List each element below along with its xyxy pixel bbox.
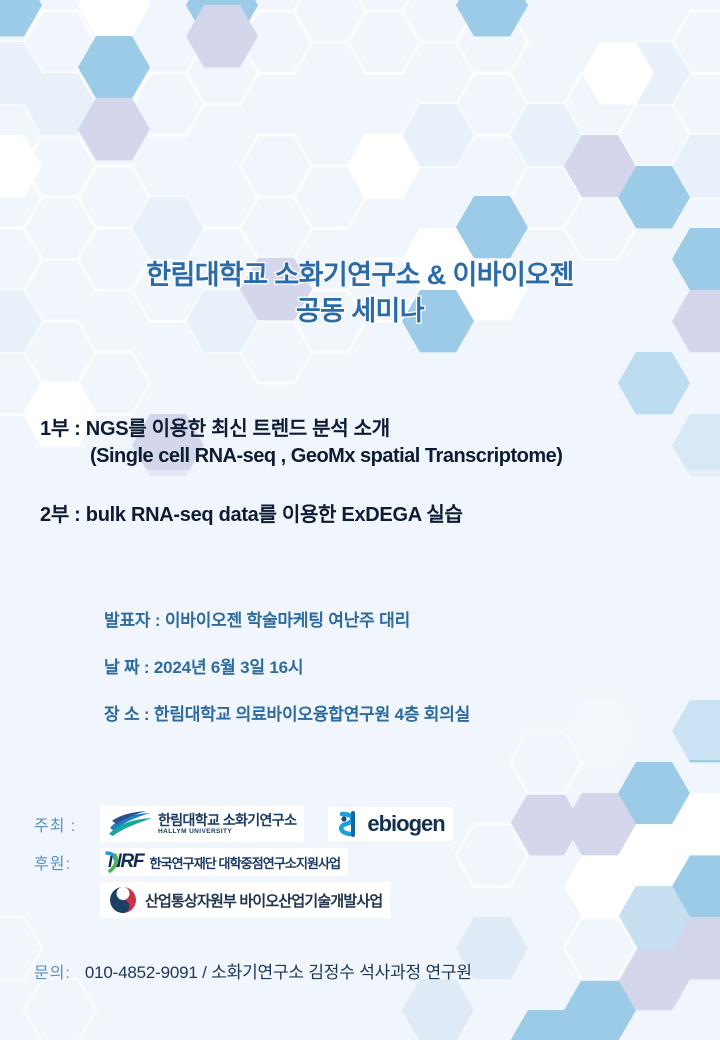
program-item-1-title: 1부 : NGS를 이용한 최신 트렌드 분석 소개: [40, 416, 720, 443]
nrf-logo: NRF 한국연구재단 대학중점연구소지원사업: [100, 848, 348, 876]
poster-content: 한림대학교 소화기연구소 & 이바이오젠 공동 세미나 1부 : NGS를 이용…: [0, 0, 720, 1040]
organizer-row: 주최 : 한림대학교 소화기연구소 HALLYM UNIVERSITY: [34, 806, 694, 842]
title-line-2: 공동 세미나: [0, 294, 720, 330]
nrf-program-text: 한국연구재단 대학중점연구소지원사업: [149, 853, 340, 872]
contact-label: 문의:: [34, 959, 71, 983]
motie-logo: 산업통상자원부 바이오산업기술개발사업: [100, 882, 390, 918]
detail-label-date: 날 짜 :: [104, 653, 149, 678]
title-line-1: 한림대학교 소화기연구소 & 이바이오젠: [0, 258, 720, 294]
organizer-label: 주최 :: [34, 812, 100, 836]
support-label: 후원:: [34, 850, 100, 874]
contact-text: 010-4852-9091 / 소화기연구소 김정수 석사과정 연구원: [85, 958, 472, 983]
hallym-university-logo: 한림대학교 소화기연구소 HALLYM UNIVERSITY: [100, 806, 304, 842]
poster-title: 한림대학교 소화기연구소 & 이바이오젠 공동 세미나: [0, 258, 720, 329]
detail-row-date: 날 짜 : 2024년 6월 3일 16시: [104, 653, 704, 678]
support-row-nrf: 후원: NRF 한국연구재단 대학중점연구소지원사업: [34, 848, 694, 876]
detail-value-location: 한림대학교 의료바이오융합연구원 4층 회의실: [154, 705, 470, 724]
ebiogen-logo: ebiogen: [328, 807, 452, 841]
support-row-motie: 산업통상자원부 바이오산업기술개발사업: [100, 882, 694, 918]
motie-program-text: 산업통상자원부 바이오산업기술개발사업: [145, 890, 382, 911]
contact-section: 문의: 010-4852-9091 / 소화기연구소 김정수 석사과정 연구원: [34, 958, 472, 983]
program-item-1-subtitle: (Single cell RNA-seq , GeoMx spatial Tra…: [40, 443, 720, 470]
program-item-2: 2부 : bulk RNA-seq data를 이용한 ExDEGA 실습: [40, 502, 720, 529]
ebiogen-helix-icon: [336, 810, 362, 838]
program-spacer: [40, 476, 720, 502]
program-list: 1부 : NGS를 이용한 최신 트렌드 분석 소개 (Single cell …: [40, 416, 720, 535]
detail-value-date: 2024년 6월 3일 16시: [154, 658, 303, 677]
detail-label-location: 장 소 :: [104, 700, 149, 725]
detail-value-presenter: 이바이오젠 학술마케팅 여난주 대리: [165, 611, 410, 630]
hallym-logo-text: 한림대학교 소화기연구소 HALLYM UNIVERSITY: [158, 813, 296, 836]
nrf-swoosh-icon: [104, 850, 120, 874]
detail-row-presenter: 발표자 : 이바이오젠 학술마케팅 여난주 대리: [104, 606, 704, 631]
event-details: 발표자 : 이바이오젠 학술마케팅 여난주 대리 날 짜 : 2024년 6월 …: [104, 606, 704, 747]
detail-row-location: 장 소 : 한림대학교 의료바이오융합연구원 4층 회의실: [104, 700, 704, 725]
detail-label-presenter: 발표자 :: [104, 606, 160, 631]
program-item-1: 1부 : NGS를 이용한 최신 트렌드 분석 소개 (Single cell …: [40, 416, 720, 470]
program-item-2-title: 2부 : bulk RNA-seq data를 이용한 ExDEGA 실습: [40, 502, 720, 529]
sponsor-section: 주최 : 한림대학교 소화기연구소 HALLYM UNIVERSITY: [34, 806, 694, 924]
hallym-name-en: HALLYM UNIVERSITY: [158, 829, 296, 836]
hallym-wave-icon: [108, 809, 154, 839]
taegeuk-icon: [108, 885, 138, 915]
hallym-name-kr: 한림대학교 소화기연구소: [158, 813, 296, 827]
ebiogen-name: ebiogen: [367, 811, 444, 837]
